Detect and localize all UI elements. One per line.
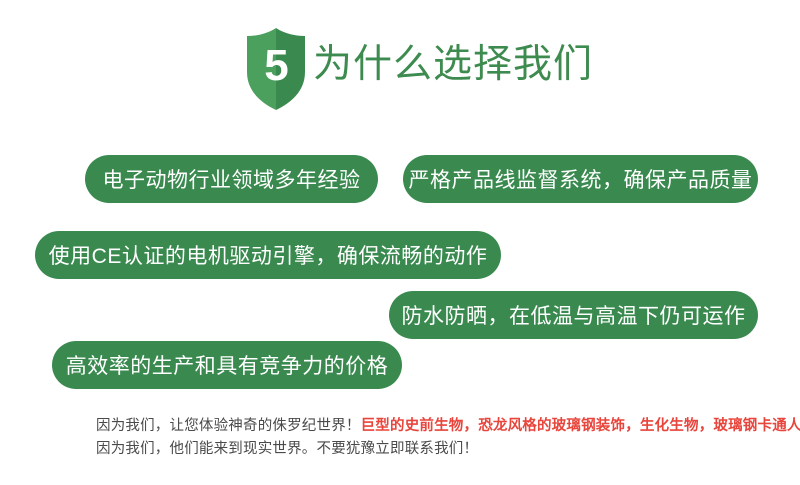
feature-pill-waterproof: 防水防晒，在低温与高温下仍可运作 <box>389 291 758 339</box>
shield-number: 5 <box>245 27 307 111</box>
feature-pill-efficiency: 高效率的生产和具有竞争力的价格 <box>52 341 402 389</box>
footer-paragraph: 因为我们，让您体验神奇的侏罗纪世界！巨型的史前生物，恐龙风格的玻璃钢装饰，生化生… <box>96 415 796 462</box>
shield-icon: 5 <box>245 27 307 111</box>
feature-pill-experience: 电子动物行业领域多年经验 <box>85 155 378 203</box>
page-title: 为什么选择我们 <box>313 39 593 92</box>
feature-pill-ce-motor: 使用CE认证的电机驱动引擎，确保流畅的动作 <box>35 231 501 279</box>
promo-banner: 5 为什么选择我们 电子动物行业领域多年经验 严格产品线监督系统，确保产品质量 … <box>0 0 800 485</box>
footer-line-1: 因为我们，让您体验神奇的侏罗纪世界！巨型的史前生物，恐龙风格的玻璃钢装饰，生化生… <box>96 415 796 438</box>
footer-line-1-highlight: 巨型的史前生物，恐龙风格的玻璃钢装饰，生化生物，玻璃钢卡通人物 <box>361 418 800 434</box>
footer-line-1-plain: 因为我们，让您体验神奇的侏罗纪世界！ <box>96 418 361 434</box>
footer-line-2: 因为我们，他们能来到现实世界。不要犹豫立即联系我们！ <box>96 438 796 461</box>
banner-header: 5 为什么选择我们 <box>0 0 800 135</box>
feature-pill-quality: 严格产品线监督系统，确保产品质量 <box>403 155 758 203</box>
